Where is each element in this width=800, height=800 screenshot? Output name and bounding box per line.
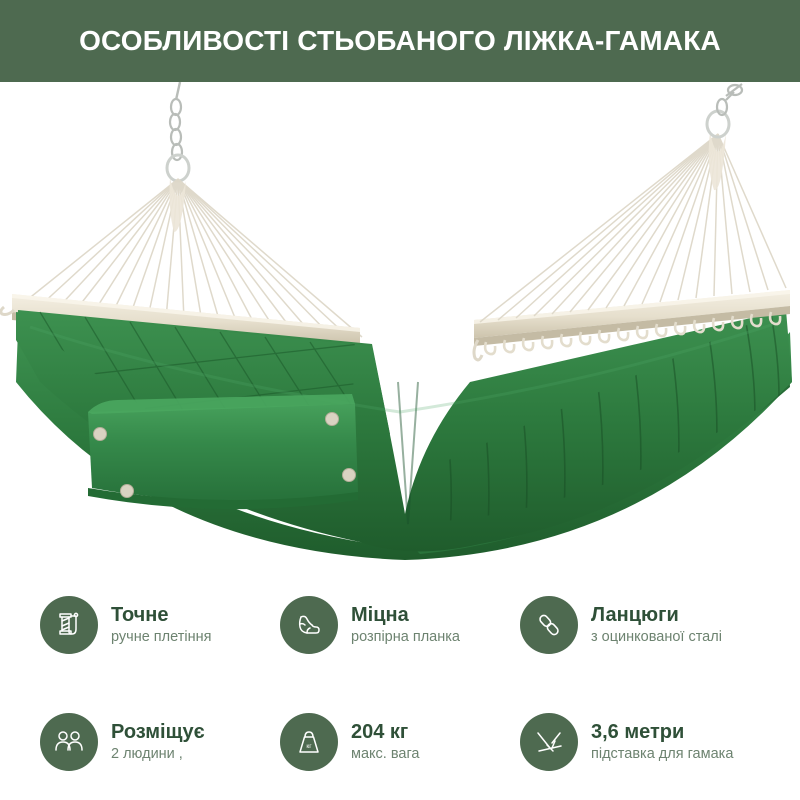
chain-link-icon	[520, 596, 578, 654]
pillow-button	[121, 485, 134, 498]
feature-item-max-weight: кг 204 кг макс. вага	[280, 713, 520, 771]
feature-item-capacity: Розміщує 2 людини ,	[40, 713, 280, 771]
feature-item-strong-bar: Міцна розпірна планка	[280, 596, 520, 654]
feature-subtitle: розпірна планка	[351, 629, 460, 646]
feature-title: Ланцюги	[591, 604, 722, 627]
feature-title: Міцна	[351, 604, 460, 627]
feature-title: 3,6 метри	[591, 721, 733, 744]
feature-title: 204 кг	[351, 721, 420, 744]
pillow-button	[326, 413, 339, 426]
feature-subtitle: ручне плетіння	[111, 629, 211, 646]
thread-spool-needle-icon	[40, 596, 98, 654]
features-grid: Точне ручне плетіння Міцна розпірна план…	[0, 566, 800, 800]
feature-item-chains: Ланцюги з оцинкованої сталі	[520, 596, 760, 654]
hammock-stand-icon	[520, 713, 578, 771]
feature-subtitle: 2 людини ,	[111, 746, 205, 763]
two-people-icon	[40, 713, 98, 771]
feature-subtitle: макс. вага	[351, 746, 420, 763]
flexed-bicep-icon	[280, 596, 338, 654]
feature-title: Точне	[111, 604, 211, 627]
right-ring-icon	[707, 111, 729, 137]
product-hero-image	[0, 82, 800, 560]
feature-title: Розміщує	[111, 721, 205, 744]
weight-kg-icon: кг	[280, 713, 338, 771]
right-rope-fan	[480, 134, 786, 322]
pillow-button	[343, 469, 356, 482]
pillow-button	[94, 428, 107, 441]
page-title: ОСОБЛИВОСТІ СТЬОБАНОГО ЛІЖКА-ГАМАКА	[79, 25, 721, 57]
quilted-pillow	[88, 394, 358, 509]
feature-subtitle: з оцинкованої сталі	[591, 629, 722, 646]
feature-item-stand-length: 3,6 метри підставка для гамака	[520, 713, 760, 771]
header-bar: ОСОБЛИВОСТІ СТЬОБАНОГО ЛІЖКА-ГАМАКА	[0, 0, 800, 82]
hammock-illustration	[0, 82, 800, 560]
feature-item-precise: Точне ручне плетіння	[40, 596, 280, 654]
weight-icon-label: кг	[306, 743, 312, 750]
left-chain-icon	[170, 82, 182, 160]
feature-subtitle: підставка для гамака	[591, 746, 733, 763]
